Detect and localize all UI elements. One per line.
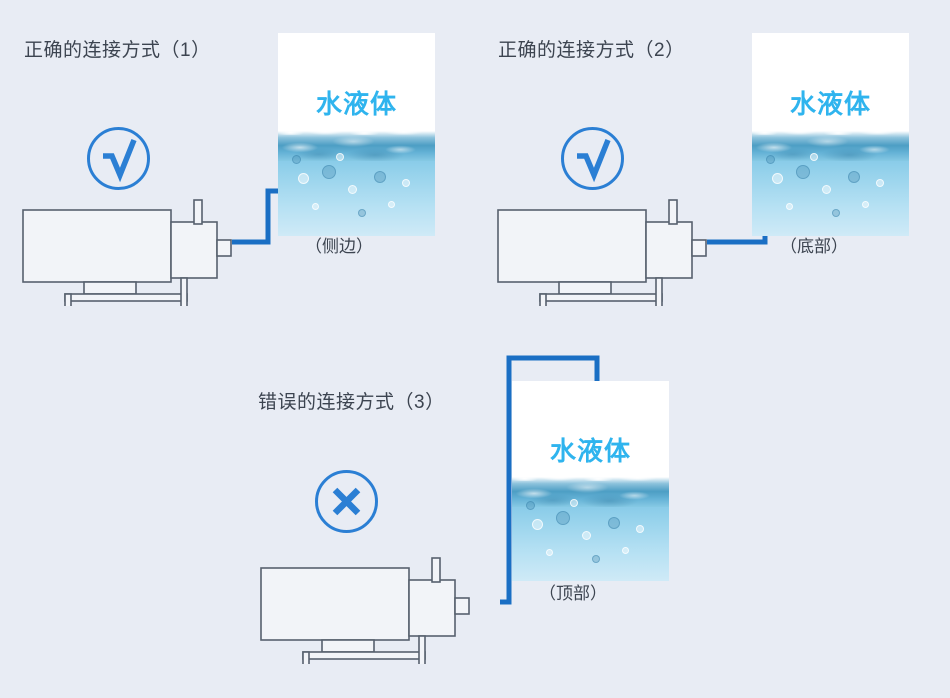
- water-foam-2: [752, 129, 909, 135]
- bubble: [570, 499, 578, 507]
- bubble: [358, 209, 366, 217]
- liquid-tank-2: 水液体: [752, 33, 909, 236]
- bubble: [312, 203, 319, 210]
- bubble: [322, 165, 336, 179]
- bubble: [810, 153, 818, 161]
- liquid-tank-3: 水液体: [512, 381, 669, 581]
- water-surface-1: [278, 131, 435, 161]
- panel-correct-side: 正确的连接方式（1）: [0, 0, 475, 340]
- check-mark-icon: [90, 130, 147, 187]
- tank-label-2: 水液体: [752, 84, 909, 121]
- status-badge-check-2: [561, 127, 624, 190]
- bubble: [832, 209, 840, 217]
- tank-label-1: 水液体: [278, 84, 435, 121]
- bubble: [636, 525, 644, 533]
- tank-caption-2: （底部）: [780, 238, 848, 255]
- pump-assembly-1: [18, 196, 243, 306]
- panel-title-1: 正确的连接方式（1）: [24, 41, 211, 60]
- bubble: [822, 185, 831, 194]
- bubble: [772, 173, 783, 184]
- bubble: [402, 179, 410, 187]
- bubble: [786, 203, 793, 210]
- bubble: [336, 153, 344, 161]
- panel-title-2: 正确的连接方式（2）: [498, 41, 685, 60]
- bubble: [526, 501, 535, 510]
- pump-assembly-3: [256, 554, 481, 664]
- bubble: [766, 155, 775, 164]
- bubble: [556, 511, 570, 525]
- water-foam-3: [512, 475, 669, 481]
- bubble: [796, 165, 810, 179]
- bubble: [388, 201, 395, 208]
- bubble: [622, 547, 629, 554]
- water-surface-2: [752, 131, 909, 161]
- status-badge-check-1: [87, 127, 150, 190]
- diagram-canvas: 正确的连接方式（1）: [0, 0, 950, 698]
- bubble: [876, 179, 884, 187]
- bubble: [546, 549, 553, 556]
- check-mark-icon: [564, 130, 621, 187]
- status-badge-cross-3: [315, 470, 378, 533]
- bubble: [292, 155, 301, 164]
- tank-caption-1: （侧边）: [305, 238, 373, 255]
- pump-assembly-2: [493, 196, 718, 306]
- bubble: [582, 531, 591, 540]
- cross-mark-icon: [318, 473, 375, 530]
- water-foam-1: [278, 129, 435, 135]
- bubble: [374, 171, 386, 183]
- bubble: [848, 171, 860, 183]
- tank-caption-3: （顶部）: [539, 585, 607, 602]
- panel-title-3: 错误的连接方式（3）: [258, 393, 445, 412]
- panel-correct-bottom: 正确的连接方式（2）: [475, 0, 950, 340]
- bubble: [608, 517, 620, 529]
- panel-wrong-top: 错误的连接方式（3）: [228, 340, 728, 698]
- bubble: [348, 185, 357, 194]
- bubble: [862, 201, 869, 208]
- liquid-tank-1: 水液体: [278, 33, 435, 236]
- bubble: [532, 519, 543, 530]
- water-surface-3: [512, 477, 669, 507]
- bubble: [592, 555, 600, 563]
- tank-label-3: 水液体: [512, 431, 669, 468]
- bubble: [298, 173, 309, 184]
